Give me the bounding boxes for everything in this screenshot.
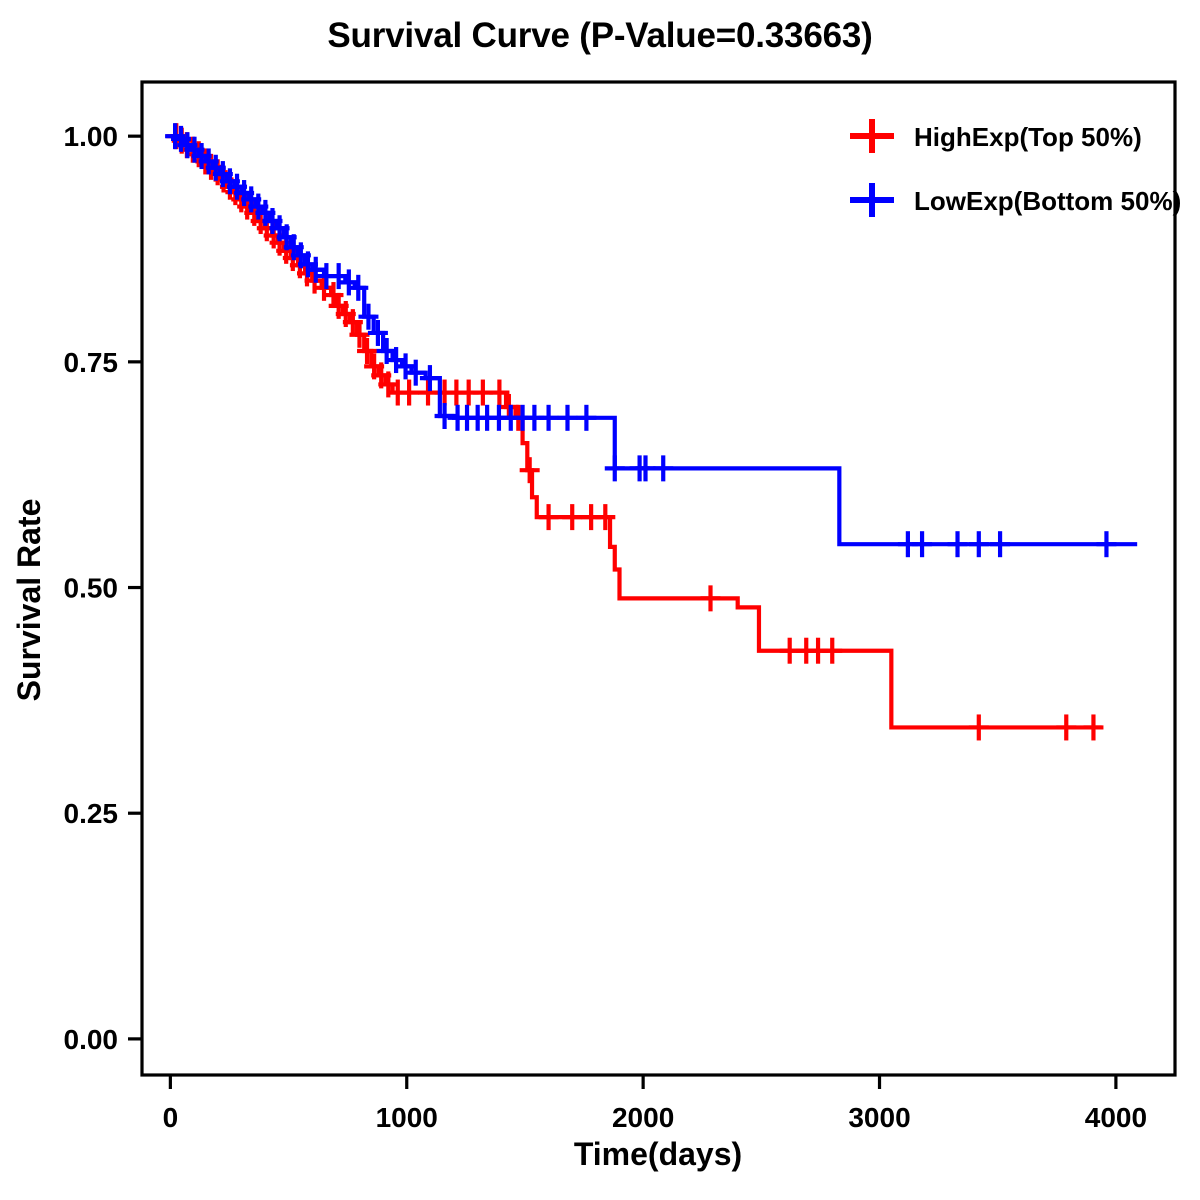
y-tick-label: 0.25 <box>64 798 119 829</box>
x-axis-ticks: 01000200030004000 <box>163 1075 1147 1133</box>
km-step-line <box>170 136 1101 727</box>
legend-item[interactable]: LowExp(Bottom 50%) <box>850 183 1181 217</box>
x-tick-label: 4000 <box>1085 1102 1147 1133</box>
legend-label: LowExp(Bottom 50%) <box>914 186 1181 216</box>
y-tick-label: 0.75 <box>64 347 119 378</box>
y-tick-label: 1.00 <box>64 121 119 152</box>
x-axis-title: Time(days) <box>574 1136 742 1172</box>
y-tick-label: 0.50 <box>64 573 119 604</box>
legend-label: HighExp(Top 50%) <box>914 122 1142 152</box>
plot-area: 0.000.250.500.751.00 01000200030004000 H… <box>0 0 1200 1200</box>
y-tick-label: 0.00 <box>64 1024 119 1055</box>
survival-curve-figure: Survival Curve (P-Value=0.33663) 0.000.2… <box>0 0 1200 1200</box>
x-tick-label: 0 <box>163 1102 179 1133</box>
plot-frame <box>142 82 1175 1075</box>
legend-item[interactable]: HighExp(Top 50%) <box>850 119 1142 153</box>
y-axis-title: Survival Rate <box>11 499 47 702</box>
x-tick-label: 1000 <box>376 1102 438 1133</box>
chart-legend[interactable]: HighExp(Top 50%)LowExp(Bottom 50%) <box>850 119 1181 217</box>
y-axis-ticks: 0.000.250.500.751.00 <box>64 121 143 1055</box>
x-tick-label: 3000 <box>848 1102 910 1133</box>
x-tick-label: 2000 <box>612 1102 674 1133</box>
